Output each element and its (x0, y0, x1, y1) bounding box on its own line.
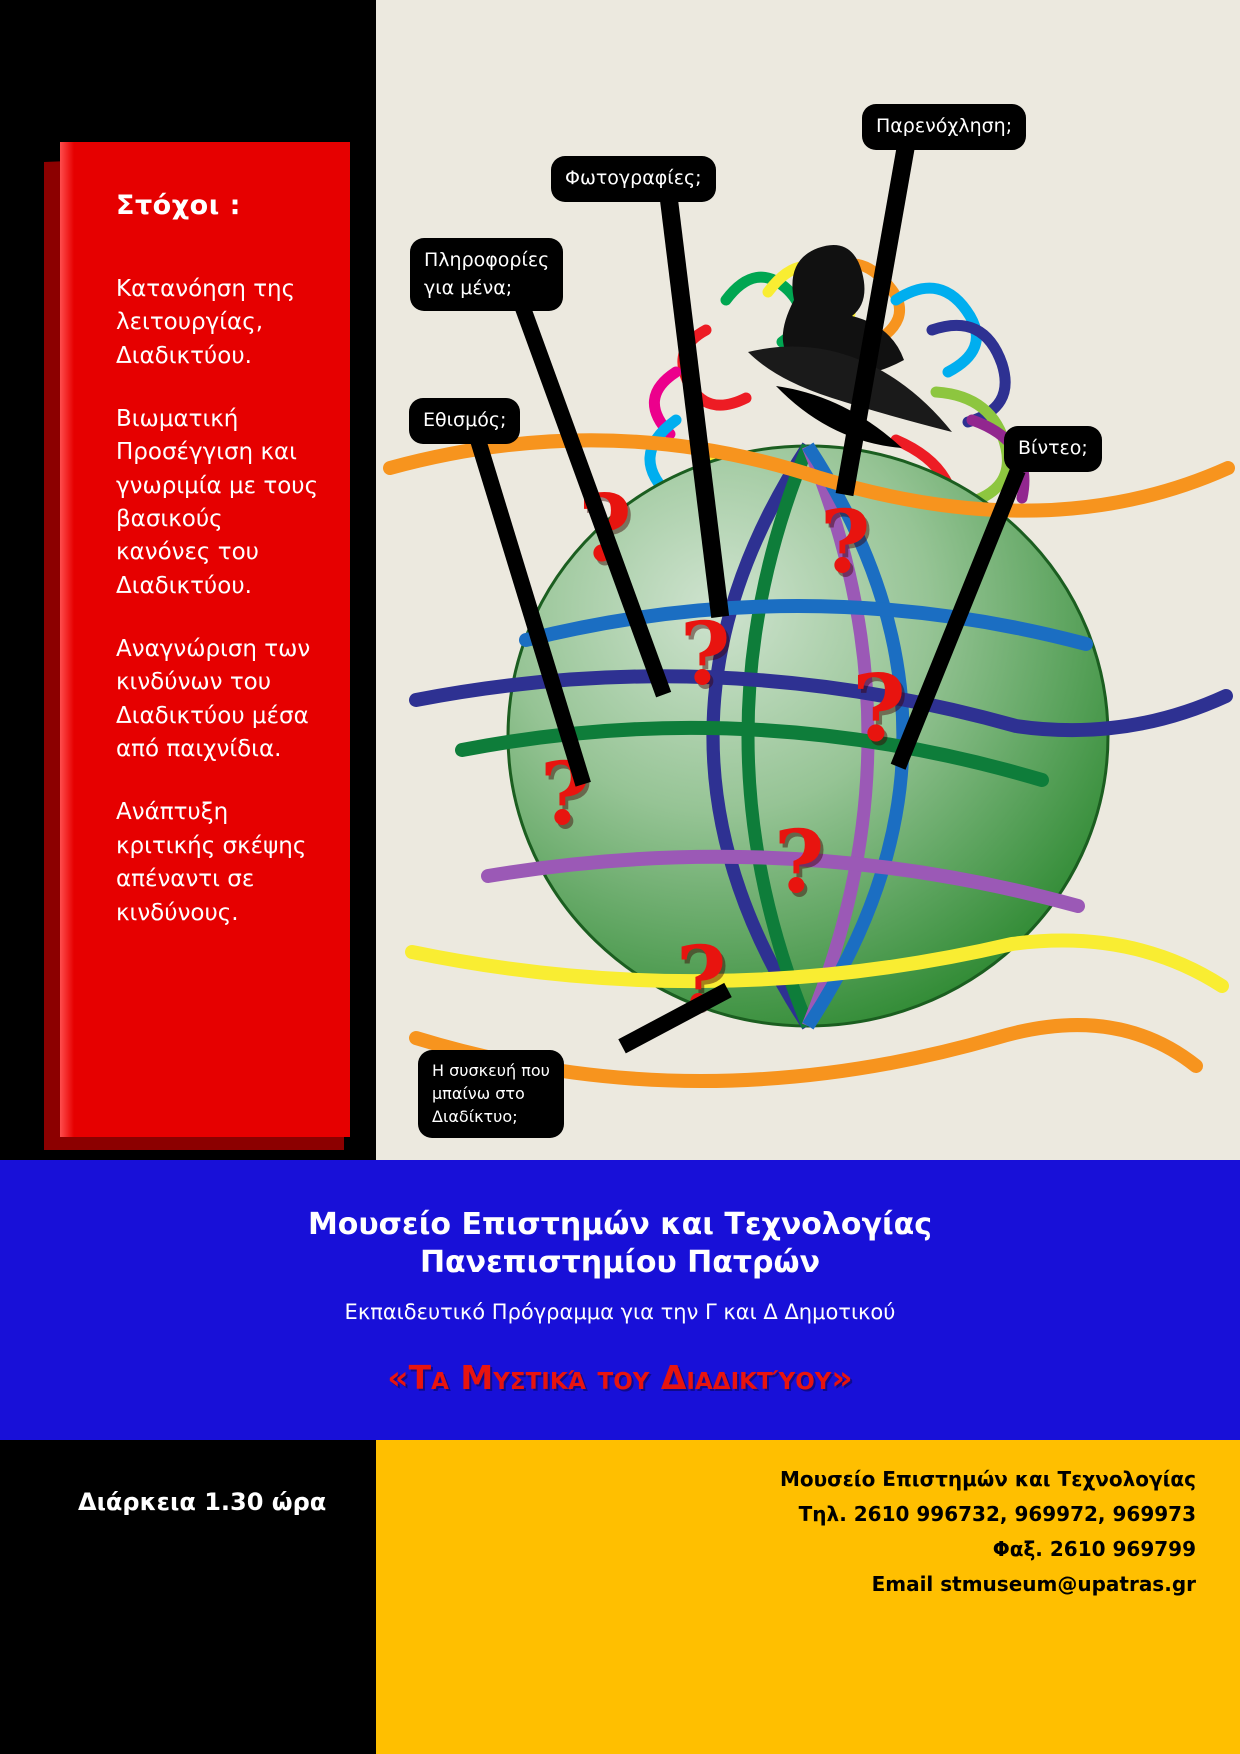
globe-illustration (376, 0, 1240, 1160)
duration-text: Διάρκεια 1.30 ώρα (78, 1488, 326, 1516)
question-mark: ? (852, 662, 906, 754)
org-line-1: Μουσείο Επιστημών και Τεχνολογίας (308, 1207, 932, 1242)
contact-fax: Φαξ. 2610 969799 (780, 1532, 1196, 1567)
objective-item: Βιωματική Προσέγγιση και γνωριμία με του… (116, 403, 322, 603)
organization-name: Μουσείο Επιστημών και Τεχνολογίας Πανεπι… (0, 1160, 1240, 1283)
bubble-harassment[interactable]: Παρενόχληση; (862, 104, 1026, 150)
bubble-info[interactable]: Πληροφορίες για μένα; (410, 238, 563, 311)
duration-bar: Διάρκεια 1.30 ώρα (0, 1440, 376, 1754)
poster-stage: ? ? ? ? ? ? ? ? Παρενόχληση; Φωτογραφίες… (0, 0, 1240, 1160)
globe-svg (376, 0, 1240, 1160)
contact-email[interactable]: Email stmuseum@upatras.gr (780, 1567, 1196, 1602)
objective-item: Κατανόηση της λειτουργίας, Διαδικτύου. (116, 273, 322, 373)
poster: ? ? ? ? ? ? ? ? Παρενόχληση; Φωτογραφίες… (0, 0, 1240, 1754)
objectives-title: Στόχοι : (116, 190, 322, 221)
question-mark: ? (820, 500, 870, 586)
objective-item: Αναγνώριση των κινδύνων του Διαδικτύου μ… (116, 633, 322, 766)
org-line-2: Πανεπιστημίου Πατρών (420, 1245, 820, 1280)
panel-sheen (60, 142, 74, 1137)
question-mark: ? (680, 612, 730, 698)
bubble-video[interactable]: Βίντεο; (1004, 426, 1102, 472)
bubble-addiction[interactable]: Εθισμός; (409, 398, 520, 444)
program-subtitle: Εκπαιδευτικό Πρόγραμμα για την Γ και Δ Δ… (0, 1300, 1240, 1324)
question-mark: ? (774, 820, 824, 906)
objectives-panel: Στόχοι : Κατανόηση της λειτουργίας, Διαδ… (60, 142, 350, 1137)
footer-blue-band: Μουσείο Επιστημών και Τεχνολογίας Πανεπι… (0, 1160, 1240, 1440)
contact-bar: Μουσείο Επιστημών και Τεχνολογίας Τηλ. 2… (376, 1440, 1240, 1754)
contact-phone: Τηλ. 2610 996732, 969972, 969973 (780, 1497, 1196, 1532)
objective-item: Ανάπτυξη κριτικής σκέψης απέναντι σε κιν… (116, 796, 322, 929)
bubble-photos[interactable]: Φωτογραφίες; (551, 156, 716, 202)
contact-name: Μουσείο Επιστημών και Τεχνολογίας (780, 1462, 1196, 1497)
bubble-device[interactable]: Η συσκευή που μπαίνω στο Διαδίκτυο; (418, 1050, 564, 1138)
program-title: «Τα Μυστικά του Διαδικτύου» (0, 1358, 1240, 1397)
contact-block: Μουσείο Επιστημών και Τεχνολογίας Τηλ. 2… (780, 1462, 1196, 1602)
